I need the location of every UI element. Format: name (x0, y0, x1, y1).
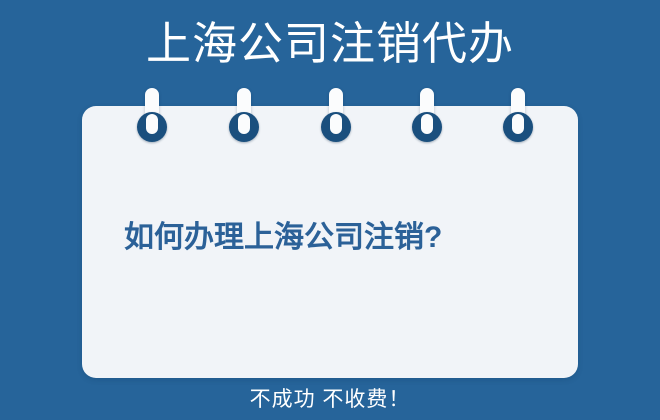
notepad-card: 如何办理上海公司注销? (82, 106, 578, 378)
poster-canvas: 上海公司注销代办 如何办理上海公司注销? 不成功 (0, 0, 660, 420)
card-heading: 如何办理上海公司注销? (124, 218, 544, 258)
poster-title: 上海公司注销代办 (0, 16, 660, 72)
footer-slogan: 不成功 不收费！ (0, 386, 660, 414)
